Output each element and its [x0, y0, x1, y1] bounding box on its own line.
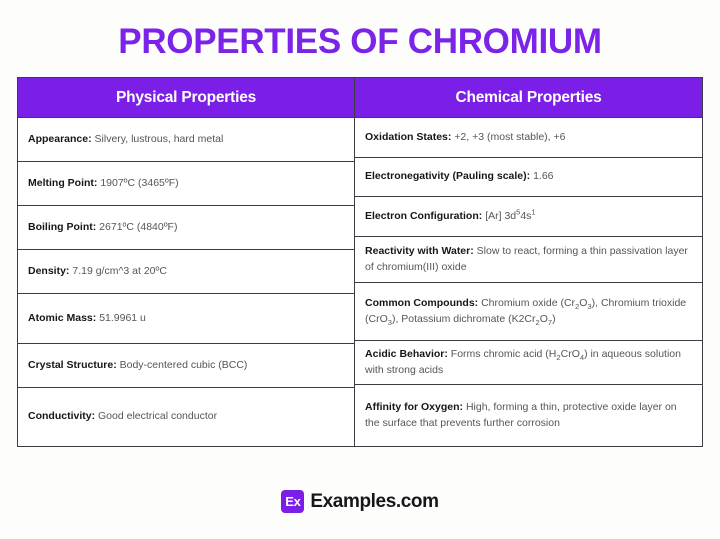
column-header-chemical: Chemical Properties	[355, 78, 702, 118]
column-header-physical: Physical Properties	[18, 78, 354, 118]
table-row: Boiling Point: 2671ºC (4840ºF)	[18, 206, 354, 250]
row-value: [Ar] 3d54s1	[485, 210, 535, 222]
column-physical-properties: Physical Properties Appearance: Silvery,…	[18, 78, 355, 446]
table-row: Melting Point: 1907ºC (3465ºF)	[18, 162, 354, 206]
row-label: Acidic Behavior:	[365, 348, 448, 360]
table-row: Acidic Behavior: Forms chromic acid (H2C…	[355, 341, 702, 385]
row-label: Melting Point:	[28, 177, 97, 189]
row-value: Silvery, lustrous, hard metal	[95, 133, 224, 145]
row-label: Appearance:	[28, 133, 92, 145]
footer-branding: Ex Examples.com	[0, 490, 720, 513]
table-row: Crystal Structure: Body-centered cubic (…	[18, 344, 354, 388]
row-label: Electronegativity (Pauling scale):	[365, 170, 530, 182]
row-value: Good electrical conductor	[98, 410, 217, 422]
table-row: Appearance: Silvery, lustrous, hard meta…	[18, 118, 354, 162]
page-title: PROPERTIES OF CHROMIUM	[0, 0, 720, 59]
brand-name: Examples.com	[310, 491, 438, 513]
row-label: Density:	[28, 265, 69, 277]
table-row: Common Compounds: Chromium oxide (Cr2O3)…	[355, 283, 702, 341]
table-row: Reactivity with Water: Slow to react, fo…	[355, 237, 702, 283]
row-value: 1.66	[533, 170, 553, 182]
table-row: Atomic Mass: 51.9961 u	[18, 294, 354, 344]
table-row: Density: 7.19 g/cm^3 at 20ºC	[18, 250, 354, 294]
row-label: Conductivity:	[28, 410, 95, 422]
row-label: Boiling Point:	[28, 221, 96, 233]
row-value: 7.19 g/cm^3 at 20ºC	[72, 265, 167, 277]
infographic-page: PROPERTIES OF CHROMIUM Physical Properti…	[0, 0, 720, 539]
table-row: Oxidation States: +2, +3 (most stable), …	[355, 118, 702, 158]
row-value: 1907ºC (3465ºF)	[100, 177, 178, 189]
row-value: +2, +3 (most stable), +6	[454, 131, 565, 143]
row-value: 51.9961 u	[99, 312, 146, 324]
examples-logo-icon: Ex	[281, 490, 304, 513]
row-value: Body-centered cubic (BCC)	[120, 359, 248, 371]
row-value: 2671ºC (4840ºF)	[99, 221, 177, 233]
column-chemical-properties: Chemical Properties Oxidation States: +2…	[355, 78, 702, 446]
table-row: Electronegativity (Pauling scale): 1.66	[355, 158, 702, 197]
row-label: Reactivity with Water:	[365, 245, 474, 257]
row-label: Common Compounds:	[365, 297, 478, 309]
row-label: Atomic Mass:	[28, 312, 96, 324]
table-row: Affinity for Oxygen: High, forming a thi…	[355, 385, 702, 446]
properties-table: Physical Properties Appearance: Silvery,…	[17, 77, 703, 447]
row-label: Oxidation States:	[365, 131, 451, 143]
row-label: Crystal Structure:	[28, 359, 117, 371]
row-label: Affinity for Oxygen:	[365, 401, 463, 413]
table-row: Conductivity: Good electrical conductor	[18, 388, 354, 446]
row-label: Electron Configuration:	[365, 210, 482, 222]
table-row: Electron Configuration: [Ar] 3d54s1	[355, 197, 702, 237]
